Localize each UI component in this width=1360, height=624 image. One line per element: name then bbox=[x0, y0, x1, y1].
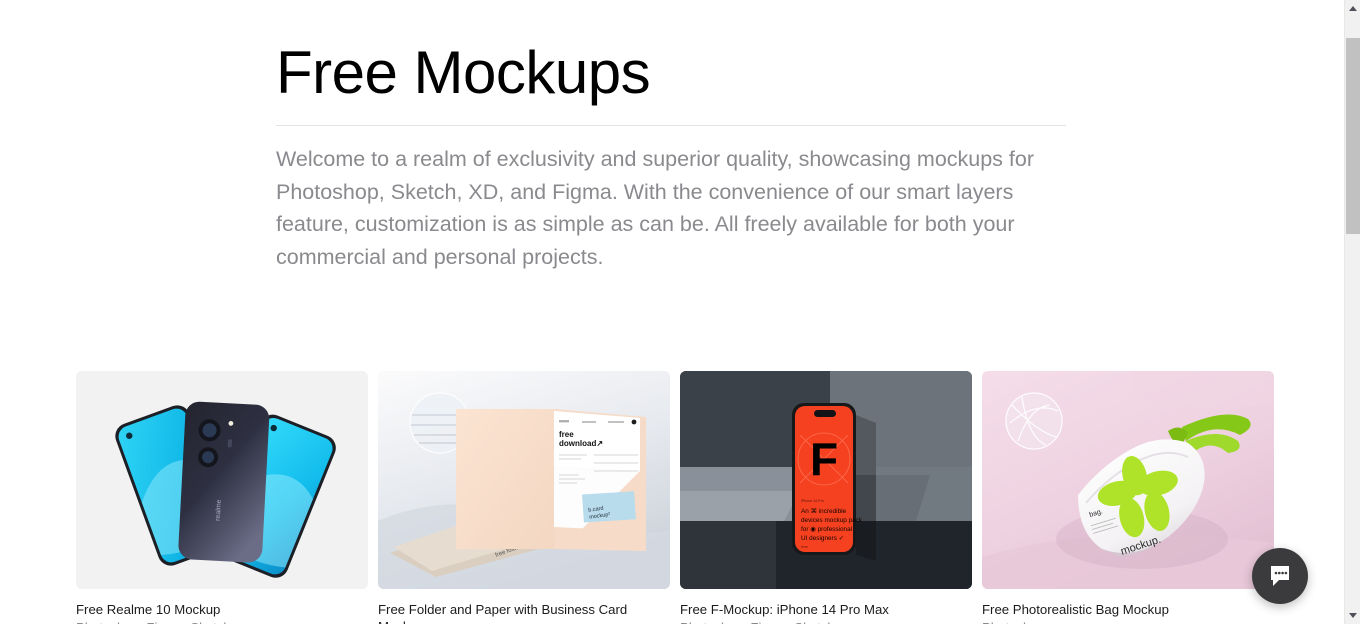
svg-text:for ◉ professional: for ◉ professional bbox=[801, 526, 852, 533]
hero-section: Free Mockups Welcome to a realm of exclu… bbox=[276, 40, 1066, 273]
svg-text:An ⌘ incredible: An ⌘ incredible bbox=[801, 508, 847, 515]
card-title[interactable]: Free Photorealistic Bag Mockup bbox=[982, 601, 1274, 618]
svg-text:UI designers ✓: UI designers ✓ bbox=[801, 535, 844, 542]
svg-text:realme: realme bbox=[215, 499, 223, 521]
hero-divider bbox=[276, 125, 1066, 126]
art-download-label: download↗ bbox=[559, 439, 603, 448]
card-subtitle: Photoshop bbox=[982, 619, 1274, 624]
page-root: Free Mockups Welcome to a realm of exclu… bbox=[0, 0, 1360, 624]
card-title[interactable]: Free Folder and Paper with Business Card… bbox=[378, 601, 670, 624]
card-title[interactable]: Free Realme 10 Mockup bbox=[76, 601, 368, 618]
scrollbar-thumb[interactable] bbox=[1346, 38, 1360, 234]
chevron-down-icon bbox=[1349, 613, 1357, 618]
realme-10-phones-thumbnail[interactable]: realme bbox=[76, 371, 368, 589]
mockup-card[interactable]: bag. mockup. Free Photorealistic Bag Moc… bbox=[982, 371, 1274, 624]
svg-text:iPhone 14 Pro: iPhone 14 Pro bbox=[801, 499, 824, 503]
svg-text:devices mockup pack: devices mockup pack bbox=[801, 517, 863, 524]
vertical-scrollbar[interactable] bbox=[1344, 0, 1360, 624]
content-viewport: Free Mockups Welcome to a realm of exclu… bbox=[0, 0, 1344, 624]
iphone-14-pro-max-thumbnail[interactable]: F iPhone 14 Pro An ⌘ incredible devices … bbox=[680, 371, 972, 589]
card-title[interactable]: Free F-Mockup: iPhone 14 Pro Max bbox=[680, 601, 972, 618]
folder-paper-business-card-thumbnail[interactable]: free folder bbox=[378, 371, 670, 589]
chat-widget-button[interactable] bbox=[1252, 548, 1308, 604]
photorealistic-tote-bag-thumbnail[interactable]: bag. mockup. bbox=[982, 371, 1274, 589]
chat-bubble-icon bbox=[1267, 563, 1293, 589]
scrollbar-up-button[interactable] bbox=[1345, 0, 1360, 17]
hero-description: Welcome to a realm of exclusivity and su… bbox=[276, 143, 1068, 273]
chevron-up-icon bbox=[1349, 6, 1357, 11]
svg-text:free: free bbox=[801, 544, 809, 549]
screen-letter: F bbox=[810, 433, 838, 485]
mockup-card-grid: realme Free Realme 10 Mockup Photoshop, … bbox=[76, 371, 1268, 624]
mockup-card[interactable]: realme Free Realme 10 Mockup Photoshop, … bbox=[76, 371, 368, 624]
mockup-card[interactable]: free folder bbox=[378, 371, 670, 624]
card-subtitle: Photoshop, Figma, Sketch bbox=[76, 619, 368, 624]
card-subtitle: Photoshop, Figma, Sketch bbox=[680, 619, 972, 624]
art-free-label: free bbox=[559, 430, 574, 439]
scrollbar-down-button[interactable] bbox=[1345, 607, 1360, 624]
page-title: Free Mockups bbox=[276, 40, 1066, 106]
mockup-card[interactable]: F iPhone 14 Pro An ⌘ incredible devices … bbox=[680, 371, 972, 624]
